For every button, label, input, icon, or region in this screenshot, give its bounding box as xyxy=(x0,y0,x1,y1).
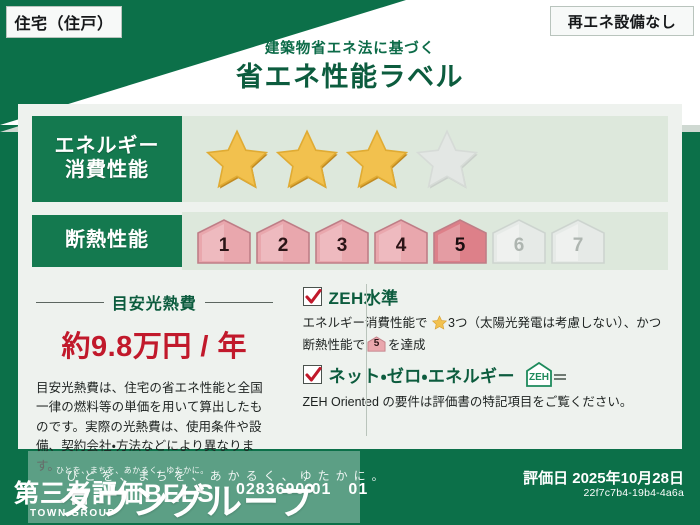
insulation-performance-row: 断熱性能 1234567 xyxy=(32,212,668,270)
star-icon-inline xyxy=(429,319,447,333)
zeh-body-pre: エネルギー消費性能で xyxy=(303,316,428,330)
insulation-level-4: 4 xyxy=(373,218,429,264)
utility-cost-heading: 目安光熱費 xyxy=(36,290,273,314)
star-icon-filled xyxy=(274,127,340,191)
energy-performance-label-box: エネルギー 消費性能 xyxy=(32,116,182,202)
insulation-level-number: 6 xyxy=(514,236,525,264)
star-icon-filled xyxy=(204,127,270,191)
heading-rule-right xyxy=(205,302,273,303)
insulation-level-2: 2 xyxy=(255,218,311,264)
energy-label-line2: 消費性能 xyxy=(65,159,149,183)
zeh-body-post: を達成 xyxy=(388,338,426,352)
label-footer: ひとを、まちを、あかるく、ゆたかに。 第三者評価BELS 0283690-01 … xyxy=(0,449,700,525)
zeh-standard-heading: ZEH水準 xyxy=(303,284,671,309)
certification-panel: ZEH水準 エネルギー消費性能で 3つ（太陽光発電は考慮しない）、かつ断熱性能で… xyxy=(289,276,683,449)
zeh-standard-title: ZEH水準 xyxy=(329,284,399,309)
star-rating xyxy=(182,116,668,202)
star-icon-filled xyxy=(344,127,410,191)
label-card: エネルギー 消費性能 断熱性能 1234567 目安光熱費 約9.8万円 / 年… xyxy=(18,104,682,449)
page-title: 省エネ性能ラベル xyxy=(0,63,700,91)
bels-logo: ひとを、まちを、あかるく、ゆたかに。 第三者評価BELS xyxy=(14,463,224,521)
insulation-level-number: 5 xyxy=(455,236,466,264)
insulation-level-5: 5 xyxy=(432,218,488,264)
insulation-level-scale: 1234567 xyxy=(196,218,606,264)
header-subtitle: 建築物省エネ法に基づく xyxy=(0,42,700,58)
net-zero-body: ZEH Oriented の要件は評価書の特記項目をご覧ください。 xyxy=(303,393,671,412)
house-badge-number: 5 xyxy=(367,336,386,352)
insulation-level-number: 7 xyxy=(573,236,584,264)
insulation-level-1: 1 xyxy=(196,218,252,264)
insulation-level-7: 7 xyxy=(550,218,606,264)
checkmark-icon xyxy=(303,365,322,384)
energy-performance-row: エネルギー 消費性能 xyxy=(32,116,668,202)
house-badge-inline: 5 xyxy=(367,336,386,352)
net-zero-title: ネット・ゼロ・エネルギー xyxy=(329,362,515,387)
insulation-level-number: 3 xyxy=(337,236,348,264)
utility-cost-title: 目安光熱費 xyxy=(112,290,197,314)
header-title-block: 建築物省エネ法に基づく 省エネ性能ラベル xyxy=(0,42,700,91)
house-type-chip: 住宅（住戸） xyxy=(6,6,122,38)
insulation-scale-content: 1234567 xyxy=(182,212,668,270)
renewable-equipment-chip: 再エネ設備なし xyxy=(550,6,694,36)
energy-label-line1: エネルギー xyxy=(55,135,160,159)
net-zero-energy-claim: ネット・ゼロ・エネルギー ZEH ZEH Oriented の要件は評価書の特記… xyxy=(303,361,671,412)
star-icon-empty xyxy=(414,127,480,191)
net-zero-heading: ネット・ゼロ・エネルギー ZEH xyxy=(303,361,671,388)
zeh-standard-claim: ZEH水準 エネルギー消費性能で 3つ（太陽光発電は考慮しない）、かつ断熱性能で… xyxy=(303,284,671,355)
panel-divider xyxy=(366,284,367,436)
certificate-hash: 22f7c7b4-19b4-4a6a xyxy=(583,487,684,499)
svg-text:ZEH: ZEH xyxy=(529,372,549,383)
utility-cost-value: 約9.8万円 / 年 xyxy=(36,323,273,365)
bels-logo-text: 第三者評価BELS xyxy=(14,474,215,510)
zeh-logo-icon: ZEH xyxy=(524,361,568,388)
insulation-performance-label-box: 断熱性能 xyxy=(32,215,182,267)
heading-rule-left xyxy=(36,302,104,303)
lower-section: 目安光熱費 約9.8万円 / 年 目安光熱費は、住宅の省エネ性能と全国一律の燃料… xyxy=(18,276,682,449)
insulation-level-number: 4 xyxy=(396,236,407,264)
evaluation-date: 評価日 2025年10月28日 xyxy=(523,467,684,488)
insulation-level-3: 3 xyxy=(314,218,370,264)
insulation-level-number: 2 xyxy=(278,236,289,264)
zeh-standard-body: エネルギー消費性能で 3つ（太陽光発電は考慮しない）、かつ断熱性能で 5 を達成 xyxy=(303,314,671,355)
insulation-level-number: 1 xyxy=(219,236,230,264)
utility-cost-panel: 目安光熱費 約9.8万円 / 年 目安光熱費は、住宅の省エネ性能と全国一律の燃料… xyxy=(18,276,289,449)
certificate-id: 0283690-01 01 xyxy=(236,475,368,499)
energy-performance-label: 住宅（住戸） 再エネ設備なし 建築物省エネ法に基づく 省エネ性能ラベル エネルギ… xyxy=(0,0,700,525)
checkmark-icon xyxy=(303,287,322,306)
insulation-level-6: 6 xyxy=(491,218,547,264)
